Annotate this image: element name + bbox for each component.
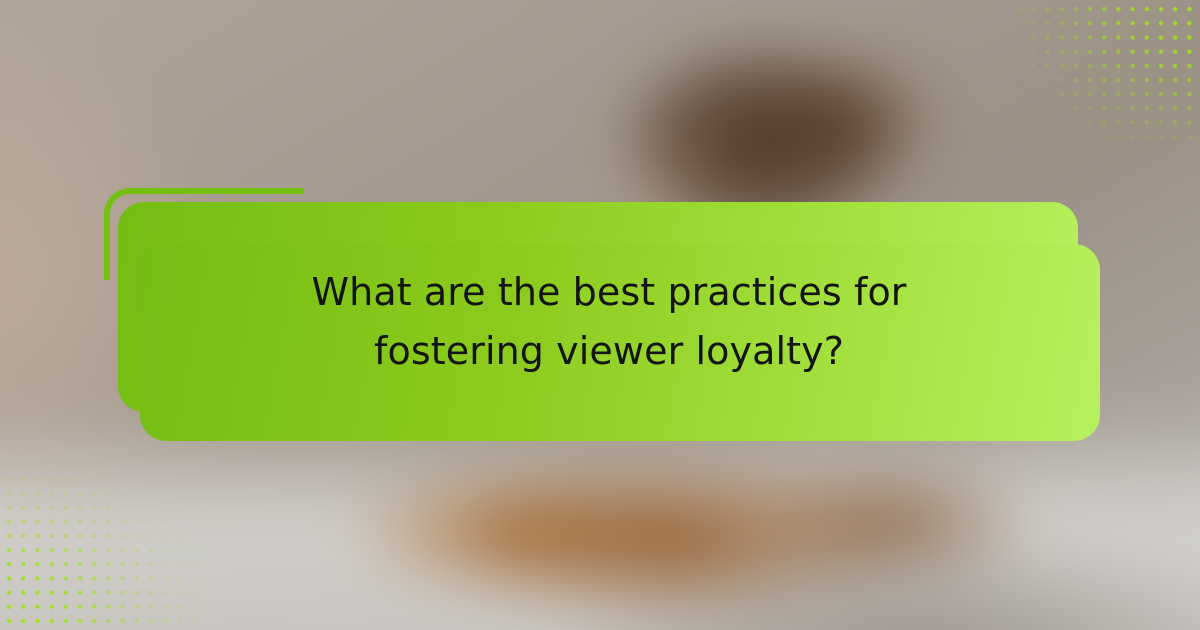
quote-container: What are the best practices for fosterin… — [118, 202, 1100, 441]
social-quote-card: What are the best practices for fosterin… — [0, 0, 1200, 630]
quote-text: What are the best practices for fosterin… — [249, 263, 969, 381]
